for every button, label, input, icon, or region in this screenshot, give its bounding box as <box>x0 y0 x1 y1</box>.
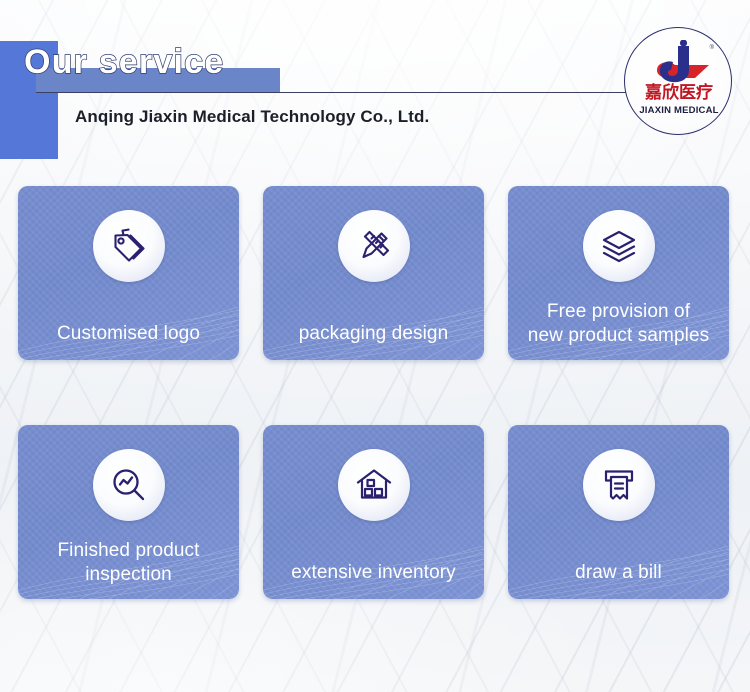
logo-mark-icon <box>625 40 732 86</box>
company-logo: ® 嘉欣医疗 JIAXIN MEDICAL <box>624 27 732 135</box>
layers-icon <box>583 210 655 282</box>
trademark-symbol: ® <box>710 45 714 51</box>
receipt-icon <box>583 449 655 521</box>
page-title: Our service <box>24 42 224 82</box>
card-label: draw a bill <box>518 561 719 585</box>
logo-name-cn: 嘉欣医疗 <box>625 84 732 103</box>
tags-icon <box>93 210 165 282</box>
card-label: extensive inventory <box>273 561 474 585</box>
card-label: Customised logo <box>28 322 229 346</box>
service-card-packaging-design[interactable]: packaging design <box>263 186 484 360</box>
company-subtitle: Anqing Jiaxin Medical Technology Co., Lt… <box>75 107 429 127</box>
card-wave-decoration <box>263 282 484 360</box>
service-page: Our service Anqing Jiaxin Medical Techno… <box>0 0 750 692</box>
header-divider <box>36 92 702 93</box>
card-label: packaging design <box>273 322 474 346</box>
page-header: Our service Anqing Jiaxin Medical Techno… <box>0 0 750 170</box>
card-wave-decoration <box>18 282 239 360</box>
card-label: Finished product inspection <box>28 539 229 587</box>
magnifier-chart-icon <box>93 449 165 521</box>
service-card-grid: Customised logo <box>18 186 732 599</box>
card-label: Free provision of new product samples <box>518 300 719 348</box>
card-wave-decoration <box>263 521 484 599</box>
service-card-finished-product-inspection[interactable]: Finished product inspection <box>18 425 239 599</box>
warehouse-icon <box>338 449 410 521</box>
service-card-extensive-inventory[interactable]: extensive inventory <box>263 425 484 599</box>
service-card-customised-logo[interactable]: Customised logo <box>18 186 239 360</box>
service-card-free-samples[interactable]: Free provision of new product samples <box>508 186 729 360</box>
service-card-draw-a-bill[interactable]: draw a bill <box>508 425 729 599</box>
logo-name-en: JIAXIN MEDICAL <box>625 105 732 116</box>
pen-ruler-icon <box>338 210 410 282</box>
card-wave-decoration <box>508 521 729 599</box>
